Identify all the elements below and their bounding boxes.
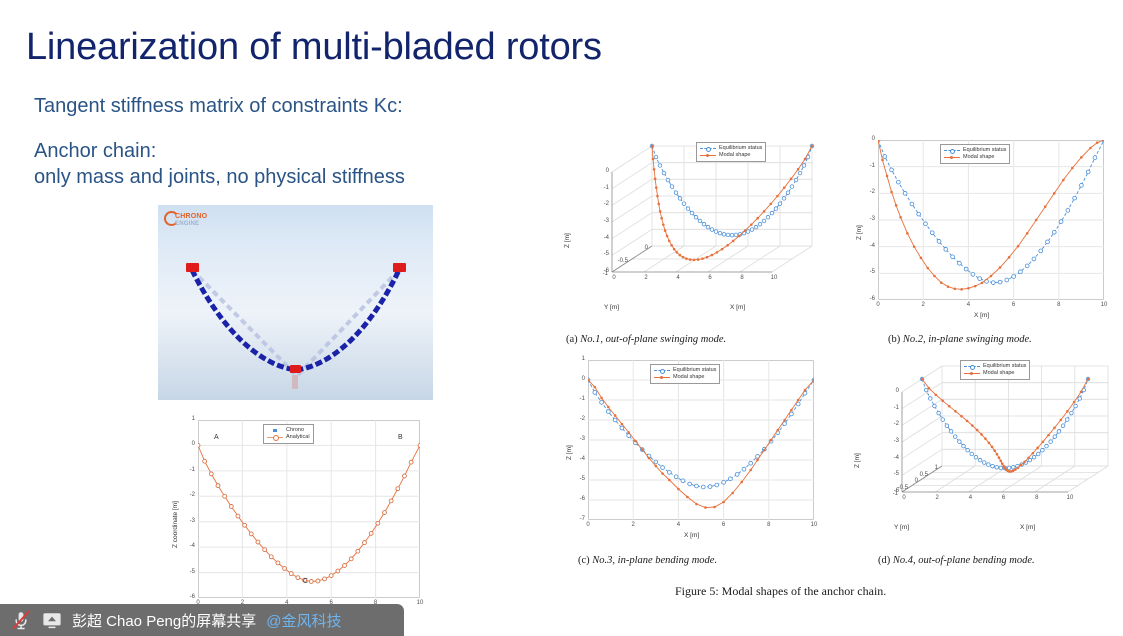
axis-tick-label: -3 (604, 218, 609, 224)
axis-tick-label: 10 (1101, 302, 1108, 308)
axis-tick-label: -5 (894, 471, 899, 477)
axis-tick-label: 10 (811, 522, 818, 528)
axis-tick-label: 6 (1002, 495, 1005, 501)
legend-label-modal: Modal shape (983, 370, 1015, 377)
point-label-c: C (303, 578, 308, 585)
mode-4-legend: Equilibrium status Modal shape (960, 360, 1030, 380)
legend-label-equilibrium: Equilibrium status (983, 363, 1026, 370)
legend-swatch-analytical-icon (267, 435, 283, 441)
axis-tick-label: -2 (870, 189, 875, 195)
subcaption-c-label: (c) (578, 555, 590, 566)
page-title: Linearization of multi-bladed rotors (26, 26, 602, 69)
legend-entry-modal: Modal shape (964, 370, 1026, 377)
axis-tick-label: -5 (870, 269, 875, 275)
axis-tick-label: 1 (192, 416, 195, 422)
legend-entry-equilibrium: Equilibrium status (700, 145, 762, 152)
subcaption-d-text: No.4, out-of-plane bending mode. (893, 555, 1035, 566)
legend-entry-modal: Modal shape (700, 152, 762, 159)
axis-tick-label: -0.5 (618, 258, 628, 264)
axis-tick-label: 10 (1067, 495, 1074, 501)
catenary-plot-axes: A B C Chrono Analytical 10-1-2-3-4-5-602… (198, 420, 420, 598)
catenary-validation-figure: A B C Chrono Analytical 10-1-2-3-4-5-602… (160, 408, 435, 630)
legend-label-equilibrium: Equilibrium status (673, 367, 716, 374)
subcaption-a-label: (a) (566, 334, 578, 345)
axis-tick-label: -4 (580, 456, 585, 462)
axis-tick-label: -2 (894, 421, 899, 427)
mode-1-zlabel: Z [m] (564, 233, 571, 248)
mode-2-xlabel: X [m] (974, 312, 989, 319)
axis-tick-label: -2 (190, 492, 195, 498)
mode-4-figure: Equilibrium status Modal shape 0-1-2-3-4… (842, 352, 1122, 552)
mode-1-legend: Equilibrium status Modal shape (696, 142, 766, 162)
axis-tick-label: -6 (190, 594, 195, 600)
subcaption-b-label: (b) (888, 334, 900, 345)
mode-4-zlabel: Z [m] (854, 453, 861, 468)
mode-4-xlabel: X [m] (1020, 524, 1035, 531)
mode-2-legend: Equilibrium status Modal shape (940, 144, 1010, 164)
axis-tick-label: -2 (580, 416, 585, 422)
axis-tick-label: -3 (870, 216, 875, 222)
legend-entry-equilibrium: Equilibrium status (944, 147, 1006, 154)
chrono-simulation-render: CHRONO ENGINE (158, 205, 433, 400)
axis-tick-label: 8 (767, 522, 770, 528)
mode-4-canvas (876, 360, 1112, 538)
legend-swatch-equilibrium-icon (654, 368, 670, 374)
axis-tick-label: -4 (190, 543, 195, 549)
legend-entry-chrono: Chrono (267, 427, 310, 434)
axis-tick-label: -1 (190, 467, 195, 473)
axis-tick-label: 10 (771, 275, 778, 281)
screen-share-bar[interactable]: 彭超 Chao Peng的屏幕共享 @金风科技 (0, 604, 404, 636)
axis-tick-label: -2 (604, 201, 609, 207)
point-label-a: A (214, 434, 219, 441)
legend-entry-modal: Modal shape (654, 374, 716, 381)
axis-tick-label: -3 (894, 438, 899, 444)
axis-tick-label: -1 (893, 491, 898, 497)
axis-tick-label: -1 (894, 405, 899, 411)
axis-tick-label: 6 (722, 522, 725, 528)
axis-tick-label: 0 (192, 441, 195, 447)
axis-tick-label: -5 (604, 251, 609, 257)
mode-2-canvas (878, 140, 1104, 300)
share-status-text: 彭超 Chao Peng的屏幕共享 (72, 610, 256, 631)
legend-entry-modal: Modal shape (944, 154, 1006, 161)
mode-4-axes: Equilibrium status Modal shape 0-1-2-3-4… (876, 360, 1112, 538)
mode-3-axes: Equilibrium status Modal shape 10-1-2-3-… (588, 360, 814, 520)
slide-subtitle: Tangent stiffness matrix of constraints … (34, 95, 403, 118)
catenary-plot-canvas (198, 420, 420, 598)
legend-swatch-modal-icon (944, 155, 960, 161)
axis-tick-label: 0 (606, 168, 609, 174)
axis-tick-label: 4 (676, 275, 679, 281)
presentation-slide: Linearization of multi-bladed rotors Tan… (0, 0, 1123, 636)
catenary-legend: Chrono Analytical (263, 424, 314, 444)
axis-tick-label: 0 (876, 302, 879, 308)
axis-tick-label: -6 (580, 496, 585, 502)
legend-entry-equilibrium: Equilibrium status (654, 367, 716, 374)
axis-tick-label: 4 (969, 495, 972, 501)
legend-swatch-modal-icon (964, 371, 980, 377)
mode-3-figure: Equilibrium status Modal shape 10-1-2-3-… (552, 352, 832, 552)
legend-swatch-modal-icon (700, 153, 716, 159)
axis-tick-label: -5 (580, 476, 585, 482)
legend-label-chrono: Chrono (286, 427, 304, 434)
axis-tick-label: -1 (603, 271, 608, 277)
legend-swatch-equilibrium-icon (964, 364, 980, 370)
axis-tick-label: -7 (580, 516, 585, 522)
axis-tick-label: -3 (580, 436, 585, 442)
axis-tick-label: 10 (417, 600, 424, 606)
legend-swatch-equilibrium-icon (944, 148, 960, 154)
axis-tick-label: 1 (582, 356, 585, 362)
axis-tick-label: -0.5 (898, 485, 908, 491)
mode-4-ylabel: Y [m] (894, 524, 909, 531)
axis-tick-label: 0.5 (920, 472, 928, 478)
axis-tick-label: 0 (896, 388, 899, 394)
mode-2-ylabel: Z [m] (856, 225, 863, 240)
axis-tick-label: -4 (870, 243, 875, 249)
legend-entry-equilibrium: Equilibrium status (964, 363, 1026, 370)
axis-tick-label: -1 (580, 396, 585, 402)
axis-tick-label: -5 (190, 569, 195, 575)
mode-1-canvas (586, 140, 816, 318)
axis-tick-label: 0 (586, 522, 589, 528)
axis-tick-label: 4 (677, 522, 680, 528)
axis-tick-label: 0 (902, 495, 905, 501)
subcaption-b-text: No.2, in-plane swinging mode. (903, 334, 1032, 345)
legend-label-modal: Modal shape (963, 154, 995, 161)
axis-tick-label: 0 (645, 245, 648, 251)
anchor-left (186, 263, 199, 272)
mode-1-xlabel: X [m] (730, 304, 745, 311)
mode-1-axes: Equilibrium status Modal shape 0-1-2-3-4… (586, 140, 816, 318)
body-text-line-2: only mass and joints, no physical stiffn… (34, 166, 405, 189)
legend-label-equilibrium: Equilibrium status (719, 145, 762, 152)
mode-3-legend: Equilibrium status Modal shape (650, 364, 720, 384)
legend-label-modal: Modal shape (673, 374, 705, 381)
mode-2-axes: Equilibrium status Modal shape 0-1-2-3-4… (878, 140, 1104, 300)
axis-tick-label: 2 (632, 522, 635, 528)
legend-swatch-chrono-icon (267, 428, 283, 434)
mode-1-ylabel: Y [m] (604, 304, 619, 311)
axis-tick-label: 0 (915, 478, 918, 484)
axis-tick-label: -1 (870, 163, 875, 169)
axis-tick-label: -3 (190, 518, 195, 524)
anchor-bottom (290, 365, 301, 373)
subcaption-c-text: No.3, in-plane bending mode. (592, 555, 717, 566)
axis-tick-label: 0 (612, 275, 615, 281)
microphone-muted-icon[interactable] (10, 609, 32, 631)
anchor-right (393, 263, 406, 272)
mode-1-figure: Equilibrium status Modal shape 0-1-2-3-4… (552, 132, 832, 332)
chain-graphic (158, 205, 433, 400)
axis-tick-label: -6 (870, 296, 875, 302)
legend-label-equilibrium: Equilibrium status (963, 147, 1006, 154)
subcaption-a-text: No.1, out-of-plane swinging mode. (580, 334, 726, 345)
axis-tick-label: 2 (936, 495, 939, 501)
axis-tick-label: -4 (894, 455, 899, 461)
subcaption-a: (a) No.1, out-of-plane swinging mode. (566, 334, 726, 345)
mode-3-ylabel: Z [m] (566, 445, 573, 460)
axis-tick-label: -1 (604, 185, 609, 191)
legend-entry-analytical: Analytical (267, 434, 310, 441)
axis-tick-label: 8 (1057, 302, 1060, 308)
axis-tick-label: 2 (644, 275, 647, 281)
axis-tick-label: 6 (1012, 302, 1015, 308)
axis-tick-label: 8 (1035, 495, 1038, 501)
mode-3-xlabel: X [m] (684, 532, 699, 539)
axis-tick-label: 2 (922, 302, 925, 308)
share-handle-text: @金风科技 (266, 610, 341, 631)
legend-label-modal: Modal shape (719, 152, 751, 159)
axis-tick-label: 4 (967, 302, 970, 308)
subcaption-d-label: (d) (878, 555, 890, 566)
legend-swatch-equilibrium-icon (700, 146, 716, 152)
catenary-ylabel: Z coordinate [m] (172, 501, 179, 548)
axis-tick-label: 0 (872, 136, 875, 142)
subcaption-c: (c) No.3, in-plane bending mode. (578, 555, 717, 566)
axis-tick-label: 1 (935, 465, 938, 471)
mode-3-canvas (588, 360, 814, 520)
mode-2-figure: Equilibrium status Modal shape 0-1-2-3-4… (842, 132, 1122, 332)
axis-tick-label: 0 (582, 376, 585, 382)
subcaption-d: (d) No.4, out-of-plane bending mode. (878, 555, 1035, 566)
screen-share-icon[interactable] (41, 609, 63, 631)
axis-tick-label: -4 (604, 235, 609, 241)
axis-tick-label: 8 (740, 275, 743, 281)
point-label-b: B (398, 434, 403, 441)
axis-tick-label: 6 (708, 275, 711, 281)
figure-caption: Figure 5: Modal shapes of the anchor cha… (675, 584, 886, 599)
legend-label-analytical: Analytical (286, 434, 310, 441)
subcaption-b: (b) No.2, in-plane swinging mode. (888, 334, 1032, 345)
legend-swatch-modal-icon (654, 375, 670, 381)
body-text-line-1: Anchor chain: (34, 140, 156, 163)
